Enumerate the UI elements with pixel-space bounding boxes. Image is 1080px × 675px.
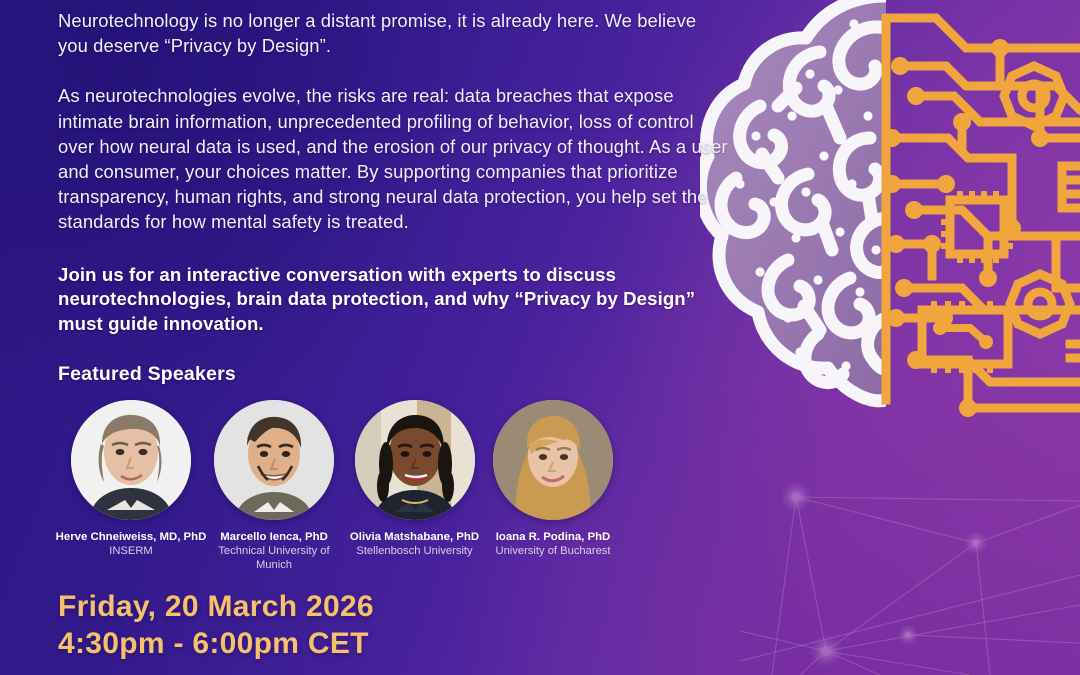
featured-speakers-heading: Featured Speakers [58,363,740,386]
speaker-card: Herve Chneiweiss, MD, PhD INSERM [58,400,204,558]
speakers-list: Herve Chneiweiss, MD, PhD INSERM [58,400,678,572]
network-constellation-pattern [740,455,1080,675]
cta-paragraph: Join us for an interactive conversation … [58,263,740,337]
chip-icon-lower [922,301,1008,373]
avatar [71,400,191,520]
portrait-ioana-podina [493,400,613,520]
speaker-name: Herve Chneiweiss, MD, PhD [56,531,207,544]
via-pad-icon [1004,66,1064,126]
poster-content: Neurotechnology is no longer a distant p… [0,0,740,675]
event-datetime: Friday, 20 March 2026 4:30pm - 6:00pm CE… [58,588,374,662]
portrait-marcello-ienca [214,400,334,520]
event-time: 4:30pm - 6:00pm CET [58,625,374,662]
speaker-org: University of Bucharest [495,545,610,558]
poster-canvas: Neurotechnology is no longer a distant p… [0,0,1080,675]
speaker-card: Marcello Ienca, PhD Technical University… [204,400,344,572]
avatar [214,400,334,520]
via-pad-icon-2 [1010,274,1070,334]
avatar [355,400,475,520]
speaker-card: Olivia Matshabane, PhD Stellenbosch Univ… [344,400,485,558]
speaker-org: Stellenbosch University [356,545,472,558]
portrait-olivia-matshabane [355,400,475,520]
speaker-name: Ioana R. Podina, PhD [496,531,611,544]
speaker-org: INSERM [109,545,153,558]
body-paragraph: As neurotechnologies evolve, the risks a… [58,83,730,234]
event-date: Friday, 20 March 2026 [58,588,374,625]
portrait-herve-chneiweiss [71,400,191,520]
speaker-name: Olivia Matshabane, PhD [350,531,479,544]
brain-circuit-icon [700,0,1080,440]
speaker-org: Technical University of Munich [204,545,344,572]
lead-paragraph: Neurotechnology is no longer a distant p… [58,8,730,58]
avatar [493,400,613,520]
speaker-card: Ioana R. Podina, PhD University of Bucha… [485,400,621,558]
speaker-name: Marcello Ienca, PhD [220,531,328,544]
